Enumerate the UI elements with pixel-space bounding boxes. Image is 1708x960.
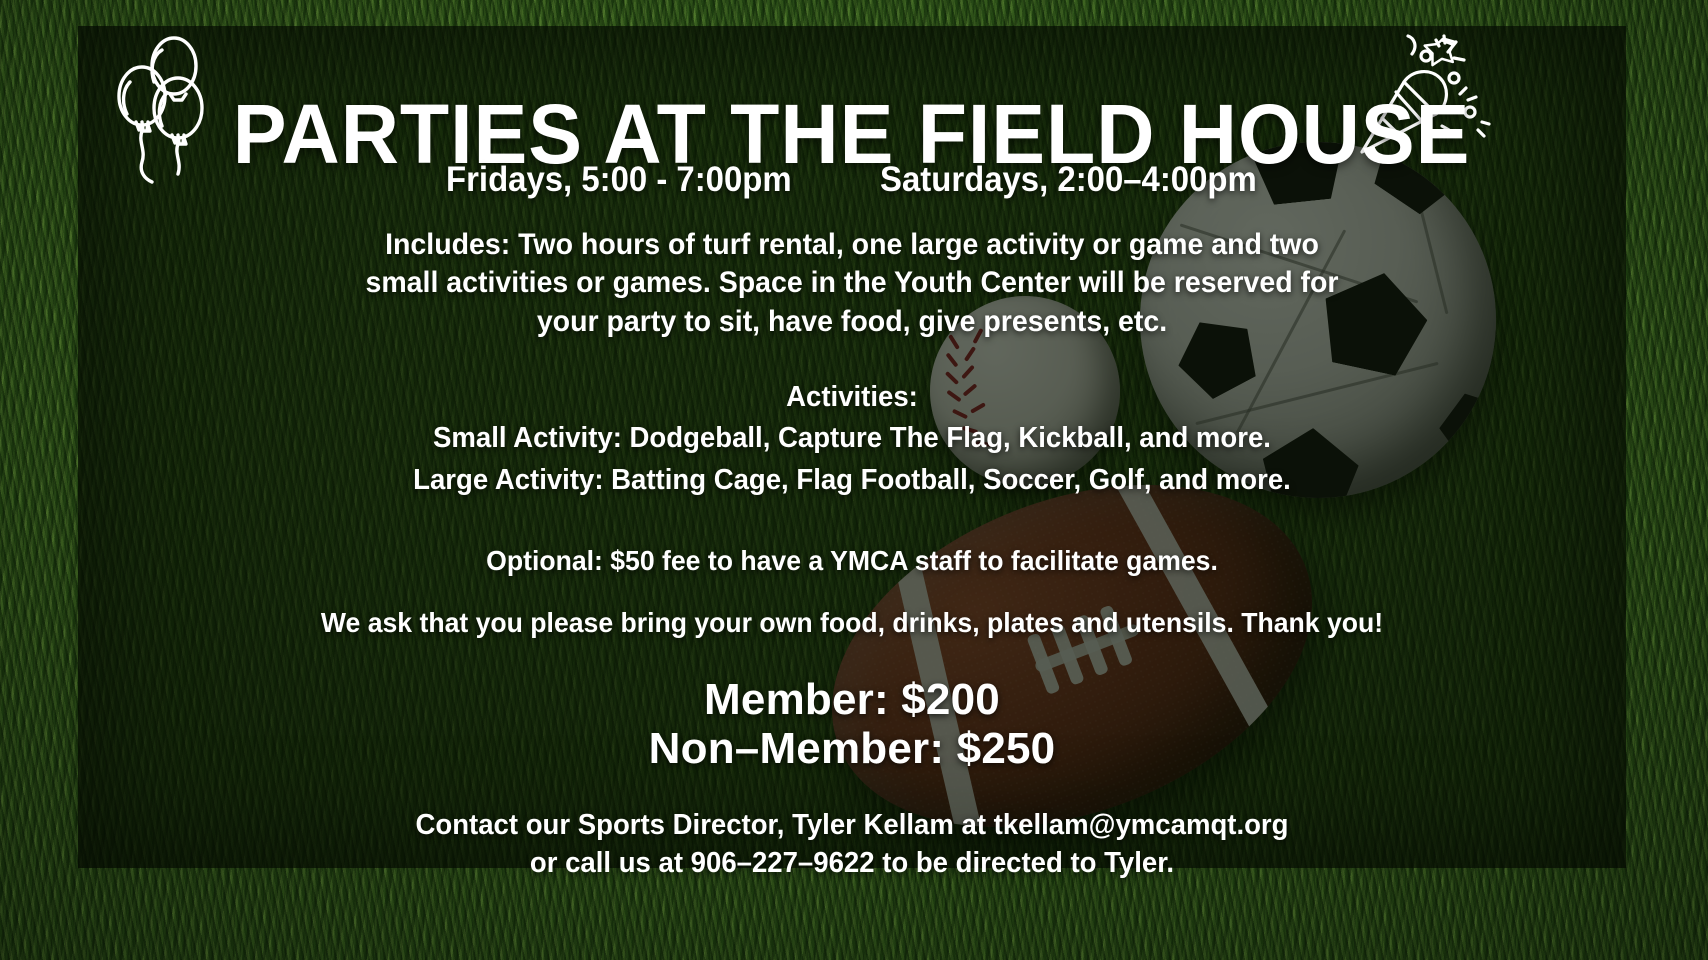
activities-large: Large Activity: Batting Cage, Flag Footb… — [117, 460, 1588, 501]
schedule-friday: Fridays, 5:00 - 7:00pm — [446, 160, 792, 200]
flyer-canvas: PARTIES AT THE FIELD HOUSE Fridays, 5:00… — [0, 0, 1708, 960]
schedule-saturday: Saturdays, 2:00–4:00pm — [880, 160, 1257, 200]
includes-line-2: small activities or games. Space in the … — [117, 264, 1588, 302]
price-non-member: Non–Member: $250 — [78, 724, 1626, 773]
bring-your-own-note: We ask that you please bring your own fo… — [117, 607, 1588, 639]
contact-block: Contact our Sports Director, Tyler Kella… — [117, 807, 1588, 882]
includes-paragraph: Includes: Two hours of turf rental, one … — [117, 226, 1588, 341]
activities-heading: Activities: — [117, 377, 1588, 418]
optional-fee-note: Optional: $50 fee to have a YMCA staff t… — [117, 545, 1588, 577]
flyer-content: Fridays, 5:00 - 7:00pm Saturdays, 2:00–4… — [78, 150, 1626, 883]
contact-line-2: or call us at 906–227–9622 to be directe… — [117, 845, 1588, 883]
schedule-row: Fridays, 5:00 - 7:00pm Saturdays, 2:00–4… — [78, 160, 1626, 200]
includes-line-1: Includes: Two hours of turf rental, one … — [117, 226, 1588, 264]
contact-line-1: Contact our Sports Director, Tyler Kella… — [117, 807, 1588, 845]
activities-small: Small Activity: Dodgeball, Capture The F… — [117, 418, 1588, 459]
activities-block: Activities: Small Activity: Dodgeball, C… — [117, 377, 1588, 501]
pricing-block: Member: $200 Non–Member: $250 — [78, 675, 1626, 774]
price-member: Member: $200 — [78, 675, 1626, 724]
includes-line-3: your party to sit, have food, give prese… — [117, 303, 1588, 341]
